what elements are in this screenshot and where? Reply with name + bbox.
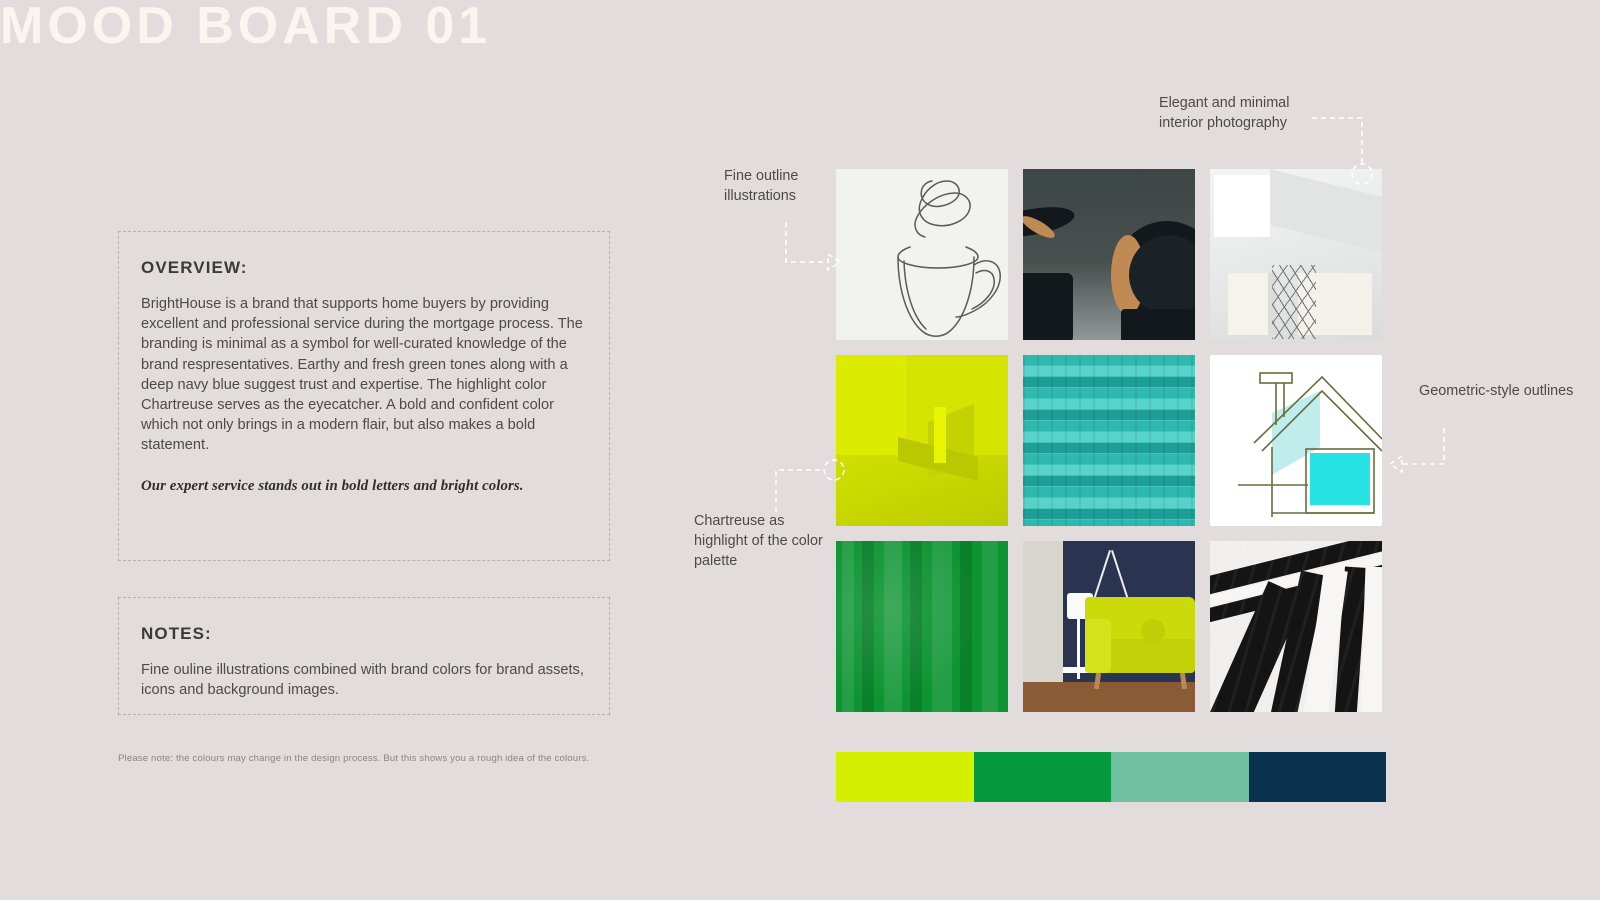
image-grid (836, 169, 1386, 716)
coffee-cup-icon (836, 169, 1008, 340)
grid-cell-chartreuse-set-photo (836, 355, 1008, 526)
palette-swatch-sage (1111, 752, 1249, 802)
grid-cell-chartreuse-sofa-photo (1023, 541, 1195, 712)
grid-cell-geometric-house-outline (1210, 355, 1382, 526)
grid-cell-marble-floor-photo (1210, 541, 1382, 712)
mood-board: MOOD BOARD 01 OVERVIEW: BrightHouse is a… (0, 0, 1600, 900)
palette-swatch-navy (1249, 752, 1387, 802)
color-palette (836, 752, 1386, 802)
fineprint-disclaimer: Please note: the colours may change in t… (118, 753, 678, 764)
overview-body: BrightHouse is a brand that supports hom… (141, 294, 587, 456)
overview-panel: OVERVIEW: BrightHouse is a brand that su… (118, 231, 610, 561)
overview-heading: OVERVIEW: (141, 258, 587, 278)
grid-cell-minimal-interior-photo (1210, 169, 1382, 340)
notes-heading: NOTES: (141, 624, 587, 644)
notes-body: Fine ouline illustrations combined with … (141, 660, 587, 700)
notes-panel: NOTES: Fine ouline illustrations combine… (118, 597, 610, 715)
annotation-interior-photography: Elegant and minimal interior photography (1159, 93, 1309, 133)
overview-tagline: Our expert service stands out in bold le… (141, 478, 587, 495)
connector-geometric (1380, 424, 1470, 484)
grid-cell-green-fabric-photo (836, 541, 1008, 712)
annotation-outline-illustrations: Fine outline illustrations (724, 166, 844, 206)
grid-cell-dark-chairs-photo (1023, 169, 1195, 340)
palette-swatch-chartreuse (836, 752, 974, 802)
annotation-chartreuse-highlight: Chartreuse as highlight of the color pal… (694, 511, 834, 571)
annotation-geometric-outlines: Geometric-style outlines (1419, 381, 1579, 401)
palette-swatch-green (974, 752, 1112, 802)
grid-cell-coffee-cup-line-illustration (836, 169, 1008, 340)
page-title: MOOD BOARD 01 (0, 0, 1600, 52)
house-outline-icon (1210, 355, 1382, 526)
grid-cell-teal-wood-planks-photo (1023, 355, 1195, 526)
